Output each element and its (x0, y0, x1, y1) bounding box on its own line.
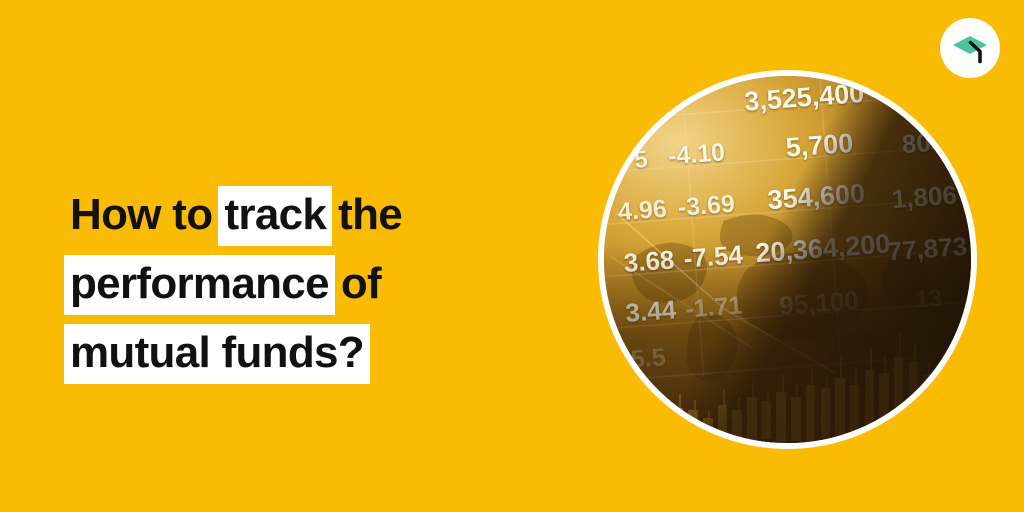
headline-line-1: How to track the (64, 186, 584, 246)
brand-logo[interactable] (940, 18, 1000, 78)
headline-segment-highlight: mutual funds? (64, 324, 370, 384)
stock-market-ticker-photo: 3,525,400 5 -4.10 5,700 805 4.96 -3.69 3… (604, 76, 971, 443)
headline-line-3: mutual funds? (64, 324, 584, 384)
graduation-cap-icon (949, 27, 991, 69)
headline-segment: the (332, 186, 408, 246)
headline-segment: How to (64, 186, 218, 246)
page-title: How to track the performance of mutual f… (64, 186, 584, 393)
headline-segment-highlight: track (218, 186, 332, 246)
photo-bottom-shade (604, 76, 971, 443)
headline-segment: of (335, 255, 387, 315)
hero-image-ring: 3,525,400 5 -4.10 5,700 805 4.96 -3.69 3… (598, 70, 977, 449)
headline-segment-highlight: performance (64, 255, 335, 315)
headline-line-2: performance of (64, 255, 584, 315)
